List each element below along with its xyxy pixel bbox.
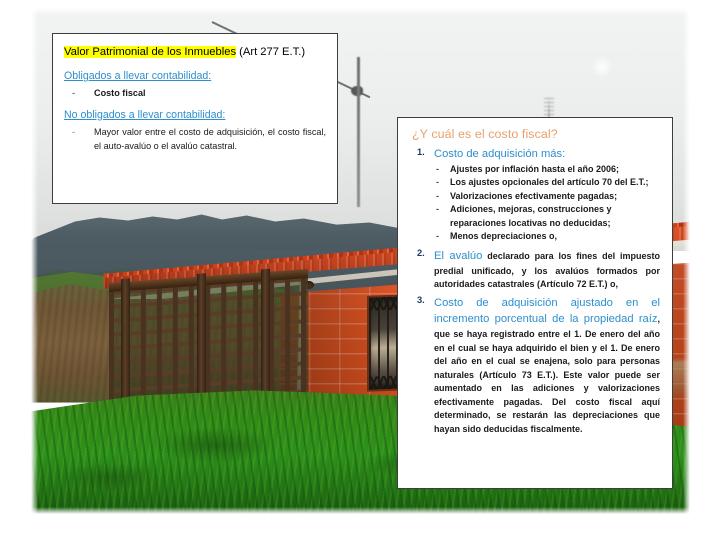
left-box-title-highlight: Valor Patrimonial de los Inmuebles [64, 46, 236, 58]
left-box-list-obligados: Costo fiscal [64, 87, 326, 101]
left-box-title: Valor Patrimonial de los Inmuebles (Art … [64, 43, 326, 61]
sub-list-item: Los ajustes opcionales del artículo 70 d… [434, 176, 660, 190]
list-item-3: Costo de adquisición ajustado en el incr… [410, 295, 660, 437]
sub-list-item: Ajustes por inflación hasta el año 2006; [434, 163, 660, 177]
left-box-title-rest: (Art 277 E.T.) [236, 46, 305, 58]
left-box-heading-obligados: Obligados a llevar contabilidad: [64, 70, 326, 82]
list-item: Mayor valor entre el costo de adquisició… [64, 126, 326, 154]
item-2-body: El avalúo declarado para los fines del i… [434, 248, 660, 292]
sub-list-item: Valorizaciones efectivamente pagadas; [434, 190, 660, 204]
list-item: Costo fiscal [64, 87, 326, 101]
item-3-text: , que se haya registrado entre el 1. De … [434, 314, 660, 433]
slide-canvas: Valor Patrimonial de los Inmuebles (Art … [0, 0, 720, 540]
sun-haze [591, 56, 613, 78]
sub-list-item: Menos depreciaciones o, [434, 230, 660, 244]
item-3-accent: Costo de adquisición ajustado en el incr… [434, 297, 660, 326]
right-box-numbered-list: Costo de adquisición más: Ajustes por in… [410, 147, 660, 436]
item-3-body: Costo de adquisición ajustado en el incr… [434, 295, 660, 437]
item-1-sublist: Ajustes por inflación hasta el año 2006;… [434, 163, 660, 244]
right-box-title: ¿Y cuál es el costo fiscal? [412, 127, 660, 141]
right-text-box: ¿Y cuál es el costo fiscal? Costo de adq… [397, 117, 673, 489]
list-item-2: El avalúo declarado para los fines del i… [410, 248, 660, 292]
item-1-heading: Costo de adquisición más: [434, 147, 660, 162]
sub-list-item: Adiciones, mejoras, construcciones y rep… [434, 203, 660, 230]
left-box-list-no-obligados: Mayor valor entre el costo de adquisició… [64, 126, 326, 154]
left-box-heading-no-obligados: No obligados a llevar contabilidad: [64, 109, 326, 121]
utility-pole [357, 57, 360, 207]
item-2-accent: El avalúo [434, 250, 482, 262]
list-item-1: Costo de adquisición más: Ajustes por in… [410, 147, 660, 244]
left-text-box: Valor Patrimonial de los Inmuebles (Art … [52, 33, 338, 204]
